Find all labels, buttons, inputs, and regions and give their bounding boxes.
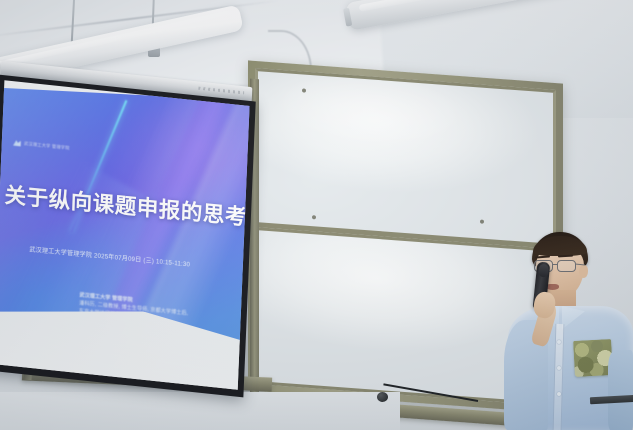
shirt-button	[557, 340, 561, 344]
lower-wall	[0, 392, 400, 430]
slide-title: 关于纵向课题申报的思考	[4, 178, 247, 231]
glasses-lens-right	[557, 260, 576, 272]
slide-logo-text: 武汉理工大学 管理学院	[24, 141, 70, 152]
whiteboard-glare	[258, 71, 553, 244]
presenter-arm-right	[608, 350, 633, 430]
projection-screen-border: 武汉理工大学 管理学院 关于纵向课题申报的思考 武汉理工大学管理学院 2025年…	[0, 75, 256, 398]
frame-screw	[302, 88, 306, 92]
slide-subtitle: 武汉理工大学管理学院 2025年07月09日 (三) 10:15-11:30	[29, 244, 190, 268]
frame-screw	[480, 219, 484, 223]
university-logo-icon	[13, 140, 21, 147]
slide-logo: 武汉理工大学 管理学院	[13, 140, 70, 152]
projection-screen-assembly: 武汉理工大学 管理学院 关于纵向课题申报的思考 武汉理工大学管理学院 2025年…	[0, 75, 256, 398]
frame-screw	[312, 215, 316, 219]
laser-pointer-head	[377, 392, 388, 402]
projection-screen-surface: 武汉理工大学 管理学院 关于纵向课题申报的思考 武汉理工大学管理学院 2025年…	[0, 80, 250, 390]
classroom-photo: 武汉理工大学 管理学院 关于纵向课题申报的思考 武汉理工大学管理学院 2025年…	[0, 0, 633, 430]
glasses-temple	[575, 263, 585, 265]
camouflage-chest-pocket	[573, 339, 613, 377]
whiteboard-panel-top	[255, 68, 556, 249]
shirt-button	[557, 366, 561, 370]
shirt-button	[557, 392, 561, 396]
